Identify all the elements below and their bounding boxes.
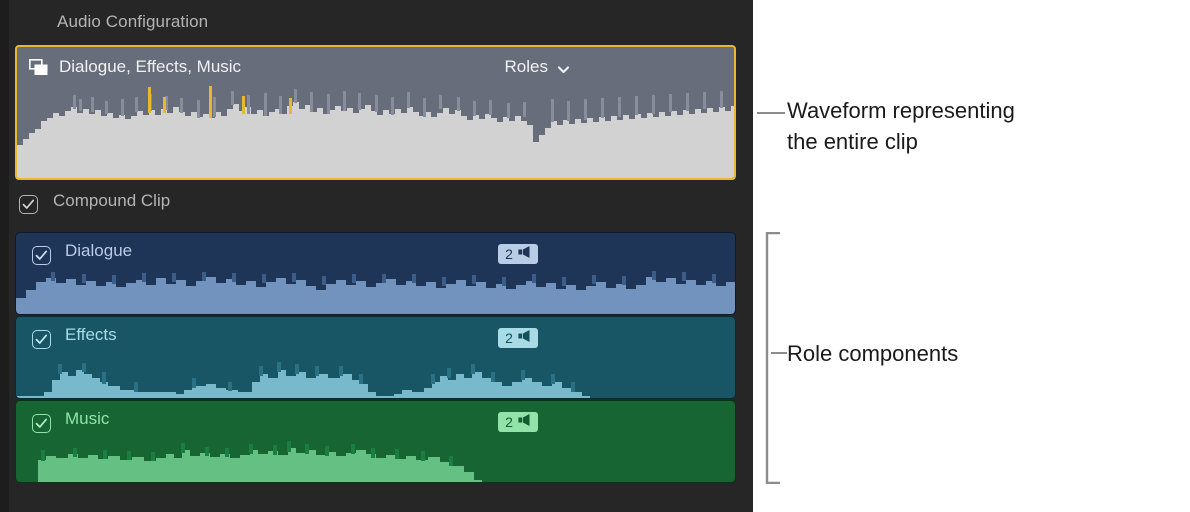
compound-clip-waveform xyxy=(17,85,734,178)
audio-configuration-panel: Audio Configuration Dialogue, Effects, M… xyxy=(0,0,753,512)
speaker-icon xyxy=(515,245,531,264)
compound-clip-row[interactable]: Compound Clip xyxy=(15,190,736,226)
dialogue-channel-count: 2 xyxy=(505,247,513,261)
dialogue-waveform xyxy=(16,268,735,314)
effects-waveform xyxy=(16,352,735,398)
music-waveform xyxy=(16,436,735,482)
music-checkbox[interactable] xyxy=(32,414,51,433)
dialogue-label: Dialogue xyxy=(65,241,132,261)
page-title: Audio Configuration xyxy=(57,12,208,32)
role-component-effects[interactable]: Effects 2 xyxy=(15,316,736,399)
compound-clip-icon xyxy=(29,59,49,76)
chevron-down-icon xyxy=(557,61,570,74)
compound-clip-checkbox[interactable] xyxy=(19,195,38,214)
effects-channel-count: 2 xyxy=(505,331,513,345)
leader-line-waveform xyxy=(757,112,785,114)
panel-left-edge xyxy=(0,0,9,512)
music-channel-count: 2 xyxy=(505,415,513,429)
annotation-waveform: Waveform representing the entire clip xyxy=(787,95,1015,157)
roles-dropdown[interactable]: Roles xyxy=(505,57,570,77)
music-channel-badge[interactable]: 2 xyxy=(498,412,538,432)
effects-label: Effects xyxy=(65,325,117,345)
compound-clip-header: Dialogue, Effects, Music Roles xyxy=(17,47,734,89)
roles-dropdown-label: Roles xyxy=(505,57,548,77)
speaker-icon xyxy=(515,413,531,432)
bracket-tick-role-components xyxy=(771,352,787,354)
compound-clip-row-label: Compound Clip xyxy=(53,191,170,211)
role-component-music[interactable]: Music 2 xyxy=(15,400,736,483)
bracket-role-components xyxy=(765,232,781,484)
effects-channel-badge[interactable]: 2 xyxy=(498,328,538,348)
dialogue-channel-badge[interactable]: 2 xyxy=(498,244,538,264)
annotation-role-components: Role components xyxy=(787,338,958,369)
effects-checkbox[interactable] xyxy=(32,330,51,349)
speaker-icon xyxy=(515,329,531,348)
music-label: Music xyxy=(65,409,109,429)
role-component-dialogue[interactable]: Dialogue 2 xyxy=(15,232,736,315)
compound-clip-waveform-card[interactable]: Dialogue, Effects, Music Roles xyxy=(15,45,736,180)
compound-clip-title: Dialogue, Effects, Music xyxy=(59,57,241,77)
dialogue-checkbox[interactable] xyxy=(32,246,51,265)
